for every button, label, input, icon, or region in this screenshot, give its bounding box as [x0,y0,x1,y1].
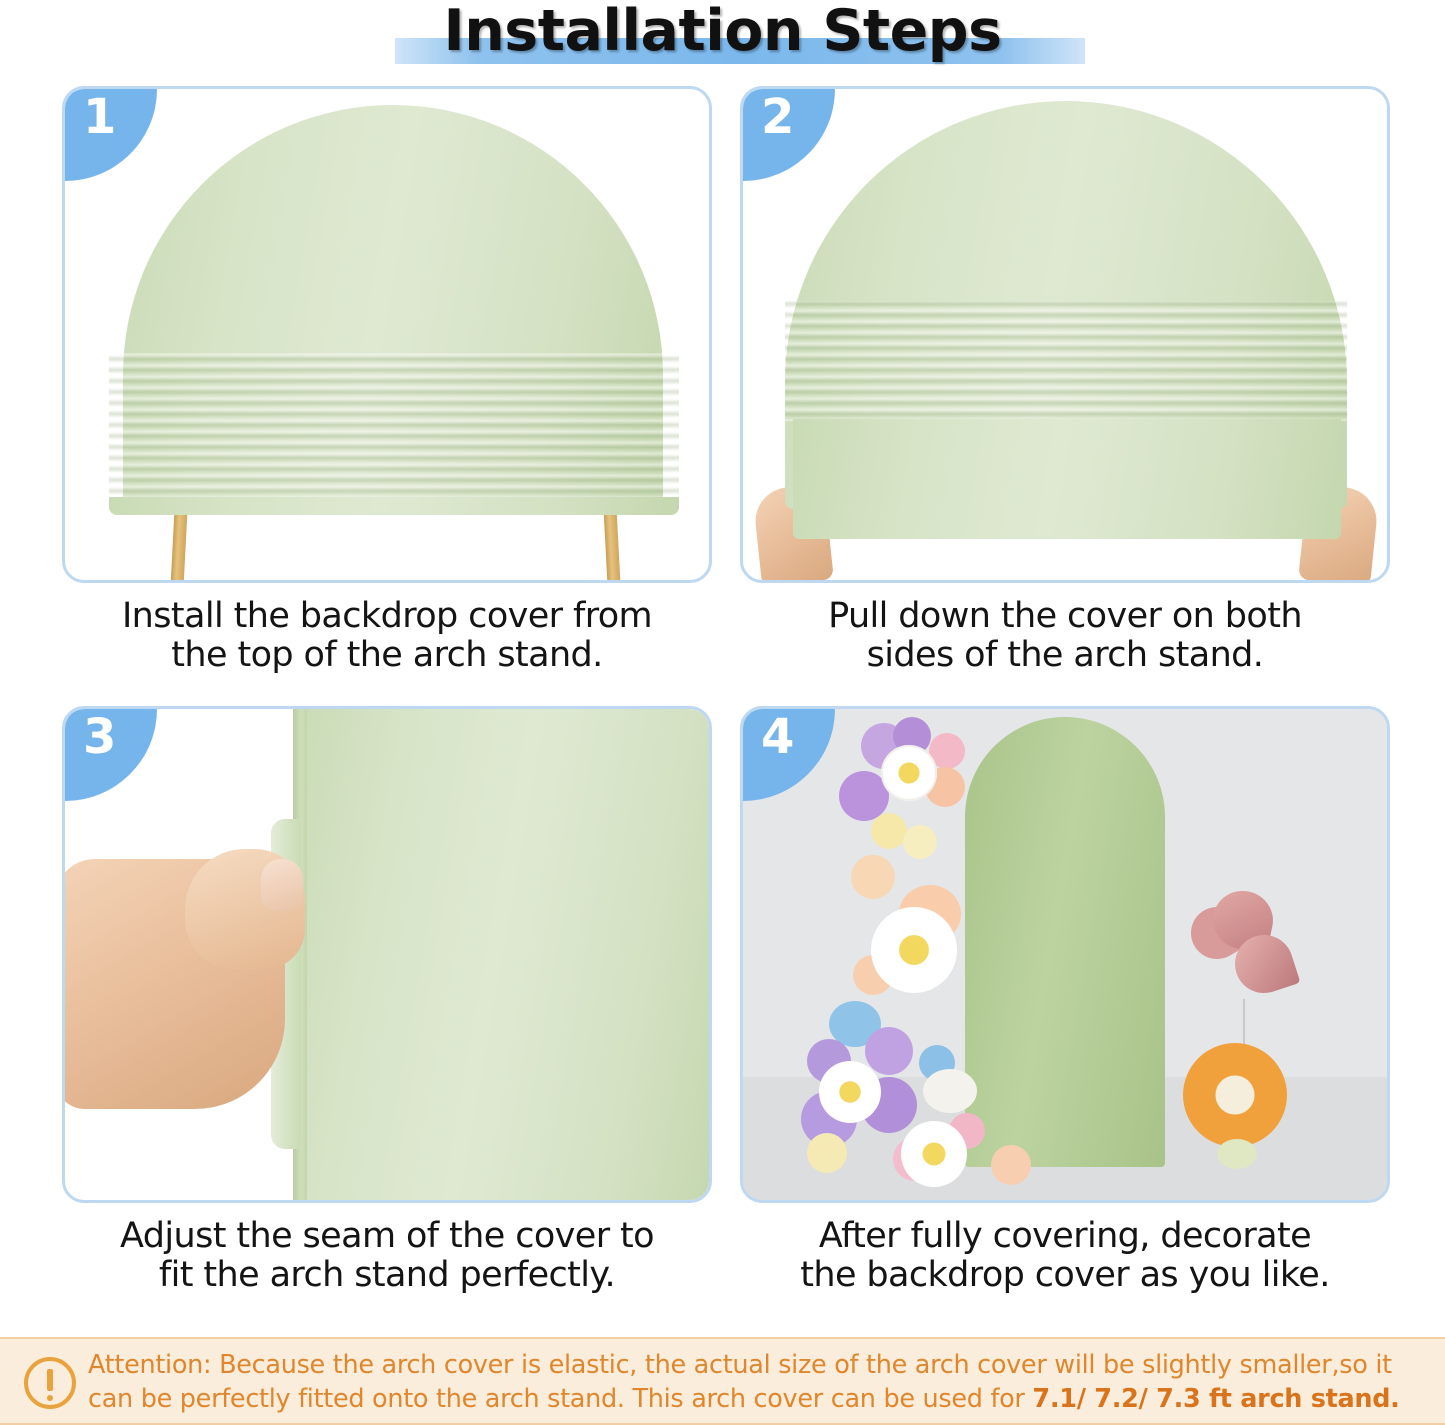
step-cell-1: 1 Install the backdrop cover from the to… [62,86,722,675]
step-4-illustration [743,709,1387,1200]
page-title: Installation Steps [0,0,1445,64]
flower-leaf [1217,1139,1257,1169]
balloon [903,825,937,859]
step-number-2: 2 [761,93,794,141]
step-number-1: 1 [83,93,116,141]
covered-arch [965,717,1165,1167]
balloon [851,855,895,899]
step-1-illustration [65,89,709,580]
balloon [871,813,907,849]
step-number-4: 4 [761,713,794,761]
step-caption-3-line1: Adjust the seam of the cover to [62,1217,712,1256]
balloon [807,1133,847,1173]
steps-grid: 1 Install the backdrop cover from the to… [0,86,1445,1331]
step-3-illustration [65,709,709,1200]
thumbnail [261,859,303,911]
step-caption-1-line1: Install the backdrop cover from [62,597,712,636]
arch-cover-hem [109,497,679,515]
arch-cover-ruched-band [109,353,679,509]
step-cell-3: 3 Adjust the seam of the cover to fit th… [62,706,722,1295]
step-caption-4-line1: After fully covering, decorate [740,1217,1390,1256]
balloon [865,1027,913,1075]
balloon [991,1145,1031,1185]
step-cell-4: 4 After fully covering, decorate the bac… [740,706,1400,1295]
step-caption-2: Pull down the cover on both sides of the… [740,597,1390,675]
attention-text: Attention: Because the arch cover is ela… [88,1349,1436,1416]
daisy-balloon [923,1069,977,1113]
attention-banner: Attention: Because the arch cover is ela… [0,1337,1445,1425]
daisy-balloon [901,1121,967,1187]
step-card-2: 2 [740,86,1390,583]
step-cell-2: 2 Pull down the cover on both sides of t… [740,86,1400,675]
step-card-3: 3 [62,706,712,1203]
step-caption-4-line2: the backdrop cover as you like. [740,1256,1390,1295]
step-caption-4: After fully covering, decorate the backd… [740,1217,1390,1295]
step-caption-1: Install the backdrop cover from the top … [62,597,712,675]
attention-text-bold: 7.1/ 7.2/ 7.3 ft arch stand. [1032,1384,1399,1414]
step-2-illustration [743,89,1387,580]
step-caption-2-line2: sides of the arch stand. [740,636,1390,675]
step-card-4: 4 [740,706,1390,1203]
daisy-balloon [819,1061,881,1123]
page-header: Installation Steps [0,0,1445,78]
step-card-1: 1 [62,86,712,583]
step-number-3: 3 [83,713,116,761]
daisy-balloon [881,745,937,801]
step-caption-3-line2: fit the arch stand perfectly. [62,1256,712,1295]
exclamation-circle-icon [24,1357,76,1409]
arch-cover-ruched-band [785,301,1347,421]
arch-cover-lower-panel [793,419,1341,539]
daisy-balloon [871,907,957,993]
step-caption-2-line1: Pull down the cover on both [740,597,1390,636]
step-caption-1-line2: the top of the arch stand. [62,636,712,675]
step-caption-3: Adjust the seam of the cover to fit the … [62,1217,712,1295]
cover-fabric-panel [293,709,709,1200]
orange-flower [1183,1043,1287,1147]
